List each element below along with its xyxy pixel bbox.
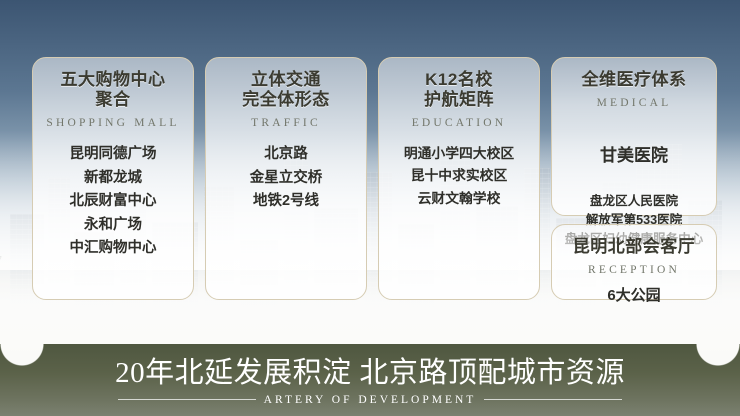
card-subtitle: RECEPTION — [558, 264, 710, 276]
card-body: 昆明同德广场 新都龙城 北辰财富中心 永和广场 中汇购物中心 — [39, 143, 187, 260]
banner-rule-right — [484, 399, 622, 400]
card-title: 全维医疗体系 — [558, 70, 710, 90]
banner-title: 20年北延发展积淀 北京路顶配城市资源 — [115, 358, 625, 388]
card-subtitle: SHOPPING MALL — [39, 117, 187, 129]
banner-content: 20年北延发展积淀 北京路顶配城市资源 ARTERY OF DEVELOPMEN… — [0, 344, 740, 416]
poster-root: 五大购物中心 聚合 SHOPPING MALL 昆明同德广场 新都龙城 北辰财富… — [0, 0, 740, 416]
bottom-banner: 20年北延发展积淀 北京路顶配城市资源 ARTERY OF DEVELOPMEN… — [0, 344, 740, 416]
card-lead-hospital: 甘美医院 — [558, 143, 710, 169]
card-body: 6大公园 — [558, 284, 710, 308]
banner-subtitle: ARTERY OF DEVELOPMENT — [264, 394, 477, 406]
card-title: 立体交通 完全体形态 — [212, 70, 360, 110]
card-body: 北京路 金星立交桥 地铁2号线 — [212, 143, 360, 213]
card-traffic[interactable]: 立体交通 完全体形态 TRAFFIC 北京路 金星立交桥 地铁2号线 — [205, 57, 367, 300]
card-education[interactable]: K12名校 护航矩阵 EDUCATION 明通小学四大校区 昆十中求实校区 云财… — [378, 57, 540, 300]
card-subtitle: MEDICAL — [558, 97, 710, 109]
banner-rule-left — [118, 399, 256, 400]
card-body: 明通小学四大校区 昆十中求实校区 云财文翰学校 — [385, 143, 533, 210]
card-reception[interactable]: 昆明北部会客厅 RECEPTION 6大公园 — [551, 224, 717, 300]
card-title: 五大购物中心 聚合 — [39, 70, 187, 110]
card-subtitle: TRAFFIC — [212, 117, 360, 129]
card-title: K12名校 护航矩阵 — [385, 70, 533, 110]
card-shopping[interactable]: 五大购物中心 聚合 SHOPPING MALL 昆明同德广场 新都龙城 北辰财富… — [32, 57, 194, 300]
card-subtitle: EDUCATION — [385, 117, 533, 129]
card-medical[interactable]: 全维医疗体系 MEDICAL 甘美医院 盘龙区人民医院 解放军第533医院 盘龙… — [551, 57, 717, 216]
banner-subtitle-row: ARTERY OF DEVELOPMENT — [118, 394, 622, 406]
card-title: 昆明北部会客厅 — [558, 237, 710, 257]
